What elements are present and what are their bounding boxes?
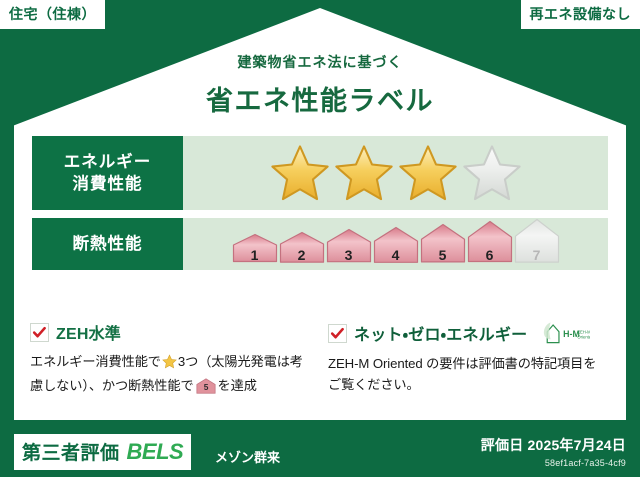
insulation-level-2: 2: [279, 231, 325, 269]
house-filled-icon: [279, 231, 325, 264]
rating-rows: エネルギー 消費性能 断熱性能 1234567: [32, 136, 608, 278]
header-titles: 建築物省エネ法に基づく 省エネ性能ラベル: [0, 52, 640, 118]
bels-logo: BELS: [127, 439, 184, 465]
insulation-performance-value: 1234567: [183, 218, 608, 270]
house-empty-icon: [514, 218, 560, 264]
page-title: 省エネ性能ラベル: [0, 79, 640, 118]
zeh-body-part1: エネルギー消費性能で: [30, 354, 161, 369]
insulation-level-4: 4: [373, 226, 419, 269]
zeh-heading: ZEH水準: [30, 320, 310, 344]
star-empty-icon: [461, 143, 523, 203]
zeh-m-oriented-logo-icon: H-M ZEH-M Oriented: [538, 320, 590, 346]
energy-performance-label: 住宅（住棟） 再エネ設備なし 建築物省エネ法に基づく 省エネ性能ラベル エネルギ…: [0, 0, 640, 477]
net-zero-body: ZEH-M Oriented の要件は評価書の特記項目をご覧ください。: [328, 353, 600, 396]
bels-plate: 第三者評価 BELS: [14, 434, 191, 470]
star-filled-icon: [333, 143, 395, 203]
house-filled-icon: [373, 226, 419, 264]
energy-performance-value: [183, 136, 608, 210]
header-subtitle: 建築物省エネ法に基づく: [0, 52, 640, 72]
house-filled-icon: [232, 233, 278, 263]
insulation-level-3: 3: [326, 228, 372, 268]
star-rating: [269, 143, 523, 203]
energy-label-line1: エネルギー: [64, 153, 152, 171]
footer-bar: 第三者評価 BELS メゾン群来 評価日 2025年7月24日 58ef1acf…: [0, 425, 640, 477]
insulation-level-5: 5: [420, 223, 466, 268]
inline-house-badge: 5: [196, 382, 216, 397]
house-rating: 1234567: [232, 218, 560, 271]
net-zero-title: ネット・ゼロ・エネルギー: [354, 321, 527, 345]
info-columns: ZEH水準 エネルギー消費性能で3つ（太陽光発電は考慮しない）、かつ断熱性能で5…: [30, 320, 610, 401]
net-zero-column: ネット・ゼロ・エネルギー H-M ZEH-M Oriented ZEH-M Or…: [320, 320, 610, 401]
evaluation-date: 評価日 2025年7月24日: [481, 435, 626, 455]
star-filled-icon: [397, 143, 459, 203]
energy-performance-label: エネルギー 消費性能: [32, 136, 183, 210]
insulation-level-7: 7: [514, 218, 560, 269]
house-filled-icon: [467, 220, 513, 263]
net-zero-heading: ネット・ゼロ・エネルギー H-M ZEH-M Oriented: [328, 320, 600, 346]
zeh-title: ZEH水準: [56, 320, 121, 344]
energy-label-line2: 消費性能: [73, 175, 143, 193]
house-filled-icon: [420, 223, 466, 263]
svg-text:5: 5: [203, 383, 208, 393]
badge-renewable-energy: 再エネ設備なし: [521, 0, 640, 29]
zeh-body-part3: を達成: [218, 378, 257, 393]
badge-building-type: 住宅（住棟）: [0, 0, 105, 29]
bels-japanese-label: 第三者評価: [22, 438, 120, 465]
house-filled-icon: [326, 228, 372, 263]
inline-star-icon: [162, 357, 177, 372]
evaluation-id: 58ef1acf-7a35-4cf9: [481, 458, 626, 468]
check-icon: [328, 324, 347, 343]
evaluation-info: 評価日 2025年7月24日 58ef1acf-7a35-4cf9: [481, 435, 626, 468]
zeh-body: エネルギー消費性能で3つ（太陽光発電は考慮しない）、かつ断熱性能で5を達成: [30, 351, 310, 401]
insulation-level-6: 6: [467, 220, 513, 268]
star-filled-icon: [269, 143, 331, 203]
insulation-level-1: 1: [232, 233, 278, 268]
insulation-performance-label: 断熱性能: [32, 218, 183, 270]
building-name: メゾン群来: [215, 447, 280, 466]
insulation-performance-row: 断熱性能 1234567: [32, 218, 608, 270]
zeh-column: ZEH水準 エネルギー消費性能で3つ（太陽光発電は考慮しない）、かつ断熱性能で5…: [30, 320, 320, 401]
check-icon: [30, 323, 49, 342]
svg-text:Oriented: Oriented: [578, 334, 591, 339]
energy-performance-row: エネルギー 消費性能: [32, 136, 608, 210]
